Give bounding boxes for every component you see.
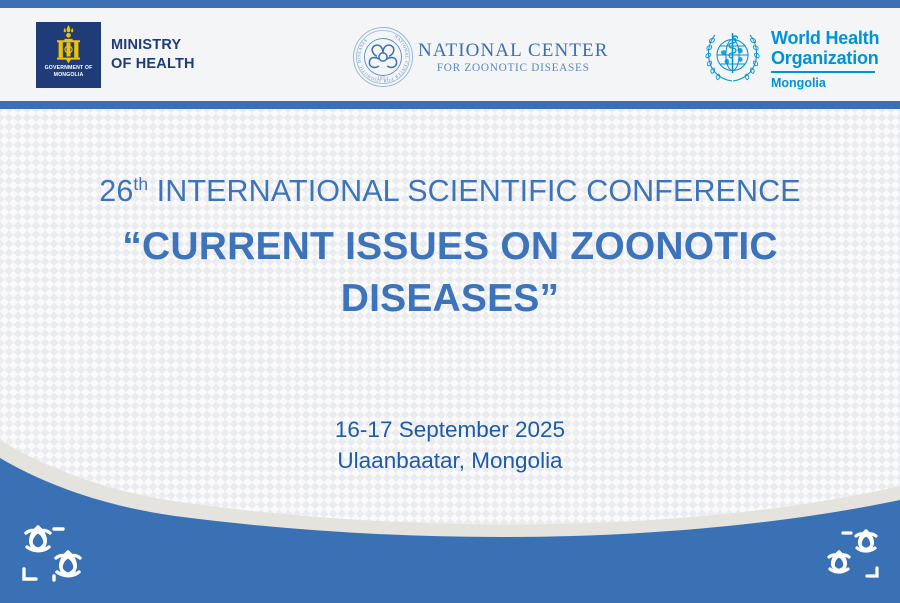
- edition-ordinal-suffix: th: [133, 174, 148, 194]
- ministry-name-line1: MINISTRY: [111, 36, 195, 55]
- triquetra-ornament-right-icon: [806, 524, 886, 586]
- who-mongolia-logo: World Health Organization Mongolia: [702, 25, 879, 90]
- triquetra-ornament-left-icon: [14, 519, 106, 591]
- conference-edition-title: 26th INTERNATIONAL SCIENTIFIC CONFERENCE: [0, 172, 900, 210]
- mongolia-state-emblem: GOVERNMENT OF MONGOLIA: [36, 22, 101, 88]
- who-divider-rule: [771, 71, 875, 73]
- header-bottom-rule: [0, 101, 900, 109]
- who-name-line1: World Health: [771, 28, 879, 48]
- header-top-rule: [0, 0, 900, 8]
- government-of-mongolia-caption: GOVERNMENT OF MONGOLIA: [36, 65, 101, 79]
- national-center-zoonotic-diseases-logo: NATIONAL CENTER FOR ZOONOTIC DISEASES 19…: [352, 26, 608, 88]
- conference-theme-title: “CURRENT ISSUES ON ZOONOTIC DISEASES”: [0, 221, 900, 325]
- ministry-name-line2: OF HEALTH: [111, 55, 195, 74]
- who-country-label: Mongolia: [771, 76, 879, 90]
- footer-wave-decoration: [0, 440, 900, 603]
- conference-title-slide: GOVERNMENT OF MONGOLIA MINISTRY OF HEALT…: [0, 0, 900, 603]
- national-center-name-line2: FOR ZOONOTIC DISEASES: [418, 61, 608, 75]
- ministry-of-health-name: MINISTRY OF HEALTH: [111, 36, 195, 74]
- svg-text:1951: 1951: [377, 76, 389, 81]
- soyombo-icon: [36, 24, 101, 68]
- who-emblem-icon: [702, 25, 764, 87]
- edition-title-rest: INTERNATIONAL SCIENTIFIC CONFERENCE: [148, 174, 801, 208]
- logo-header-band: GOVERNMENT OF MONGOLIA MINISTRY OF HEALT…: [0, 8, 900, 101]
- national-center-name-line1: NATIONAL CENTER: [418, 40, 608, 61]
- who-name-line2: Organization: [771, 48, 879, 68]
- zoonotic-seal-icon: NATIONAL CENTER FOR ZOONOTIC DISEASES 19…: [352, 26, 414, 88]
- edition-number: 26: [99, 174, 133, 208]
- ministry-of-health-logo: GOVERNMENT OF MONGOLIA MINISTRY OF HEALT…: [36, 22, 195, 88]
- who-wordmark: World Health Organization Mongolia: [771, 25, 879, 90]
- title-block: 26th INTERNATIONAL SCIENTIFIC CONFERENCE…: [0, 172, 900, 325]
- national-center-name: NATIONAL CENTER FOR ZOONOTIC DISEASES: [418, 40, 608, 75]
